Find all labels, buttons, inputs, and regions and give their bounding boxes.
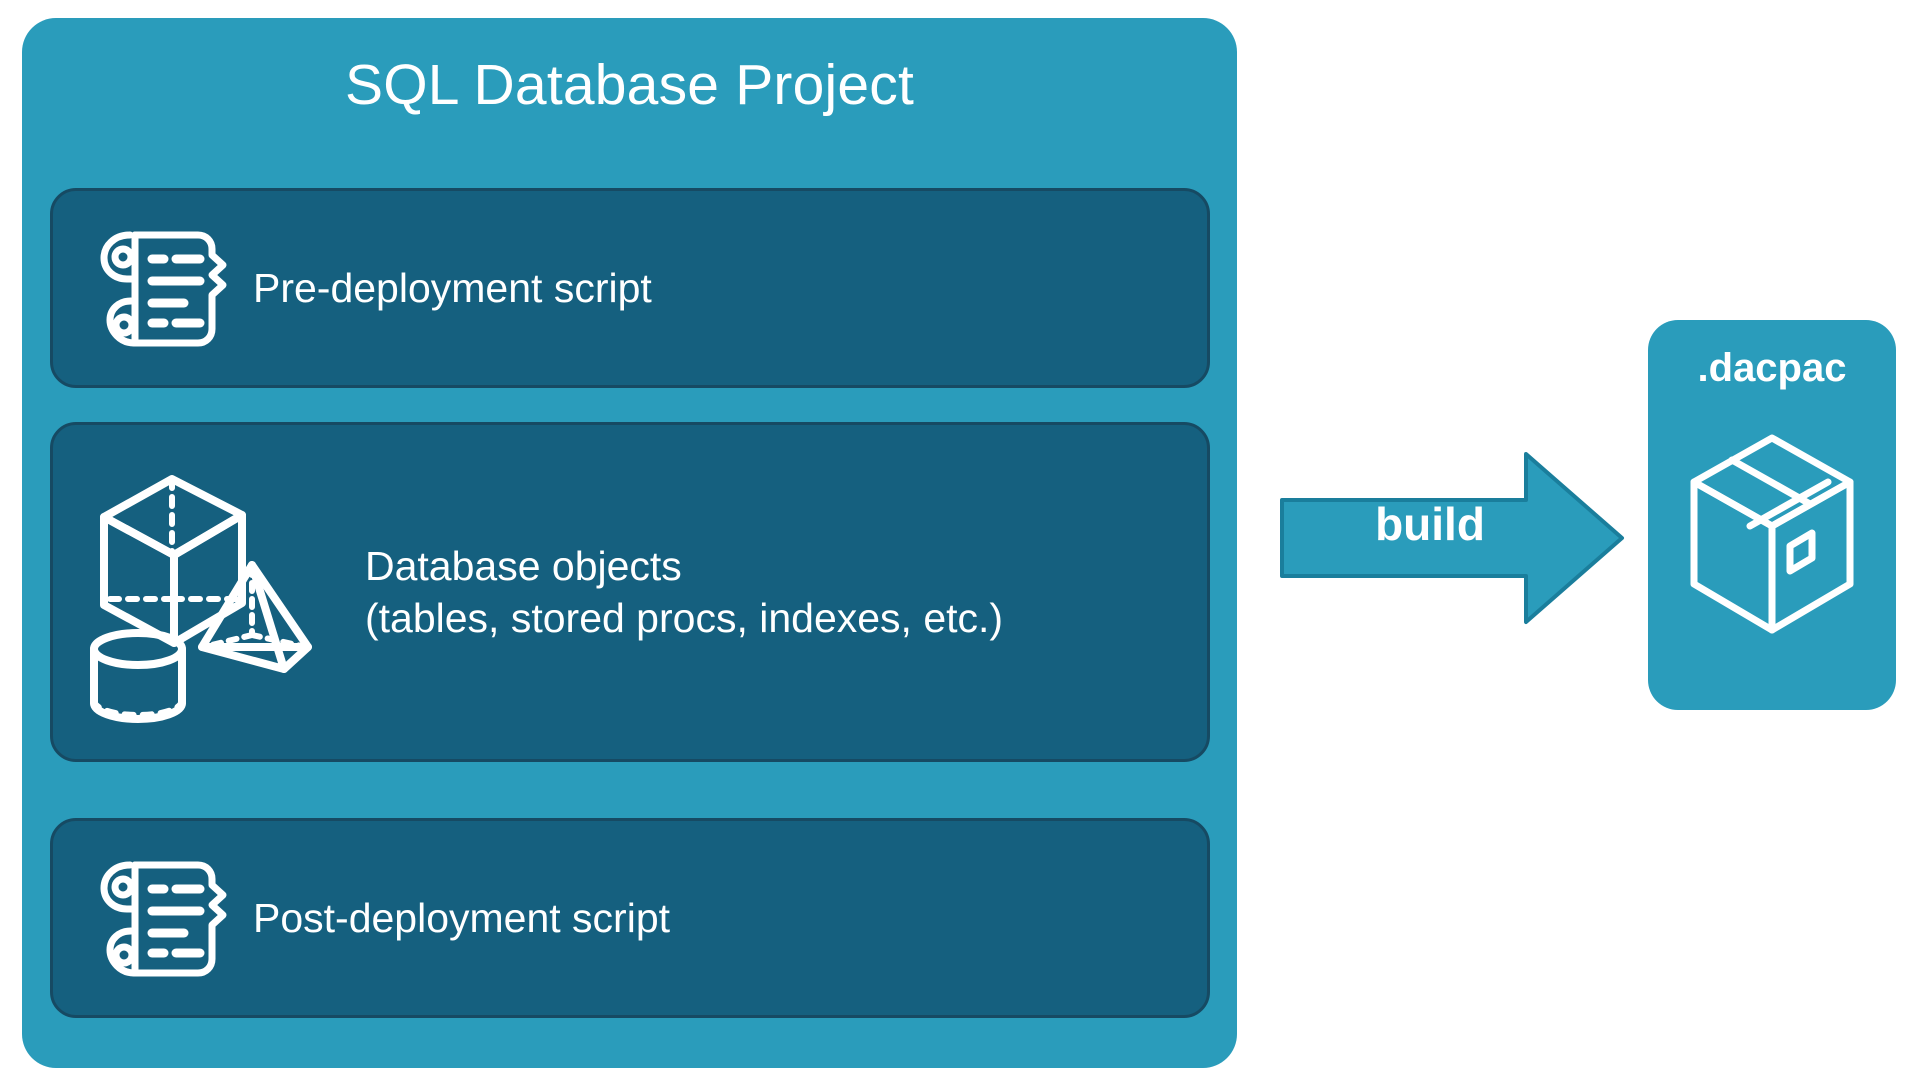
card-label-database-objects: Database objects (tables, stored procs, …: [365, 540, 1003, 645]
card-post-deployment[interactable]: Post-deployment script: [50, 818, 1210, 1018]
dacpac-output-panel[interactable]: .dacpac: [1648, 320, 1896, 710]
cylinder-icon: [94, 633, 182, 719]
package-box-icon: [1680, 412, 1864, 662]
pyramid-icon: [202, 565, 308, 669]
diagram-canvas: SQL Database Project: [0, 0, 1920, 1080]
card-label-post-deployment: Post-deployment script: [253, 892, 670, 944]
card-database-objects[interactable]: Database objects (tables, stored procs, …: [50, 422, 1210, 762]
dacpac-title: .dacpac: [1648, 346, 1896, 391]
card-pre-deployment[interactable]: Pre-deployment script: [50, 188, 1210, 388]
page-title: SQL Database Project: [22, 54, 1237, 117]
shapes-icon: [71, 457, 361, 727]
sql-database-project-panel: SQL Database Project: [22, 18, 1237, 1068]
scroll-icon: [75, 213, 245, 363]
scroll-icon: [75, 843, 245, 993]
card-label-pre-deployment: Pre-deployment script: [253, 262, 652, 314]
arrow-right-icon: [1278, 448, 1628, 628]
